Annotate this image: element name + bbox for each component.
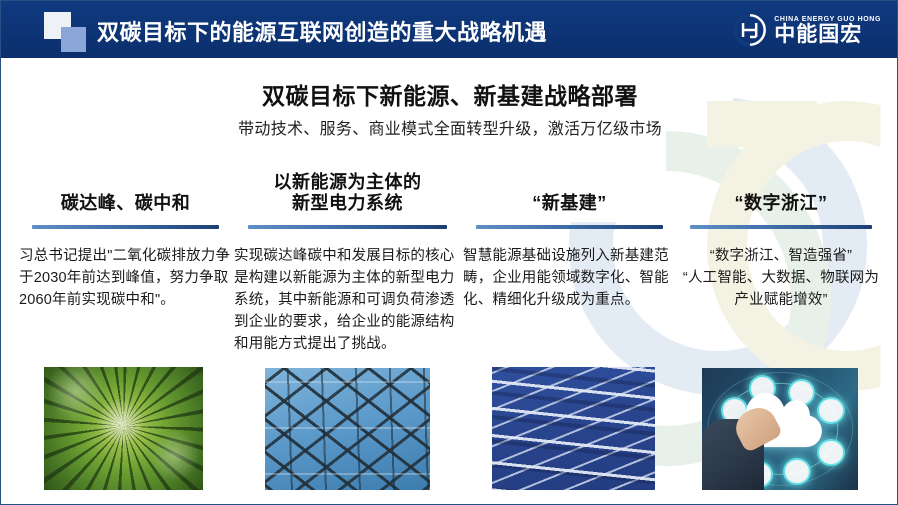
cloud-iot-photo [702,368,858,490]
column-body-text: 习总书记提出"二氧化碳排放力争于2030年前达到峰值，努力争取2060年前实现碳… [19,245,232,311]
column-divider-rule [248,225,448,229]
company-logo: CHINA ENERGY GUO HONG 中能国宏 [733,11,881,49]
forest-canopy-photo [44,367,203,490]
solar-panel-photo [492,367,655,490]
column-divider-rule [32,225,219,229]
column-heading: “数字浙江” [678,156,884,214]
column-heading: “新基建” [463,156,676,214]
column-digital-zhejiang: “数字浙江” “数字浙江、智造强省”“人工智能、大数据、物联网为产业赋能增效” [678,156,884,311]
page-title: 双碳目标下新能源、新基建战略部署 [1,77,898,111]
logo-english-name: CHINA ENERGY GUO HONG [774,16,881,23]
logo-text-block: CHINA ENERGY GUO HONG 中能国宏 [774,16,881,45]
slide-root: 双碳目标下的能源互联网创造的重大战略机遇 CHINA ENERGY GUO HO… [0,0,898,505]
solar-panel-image [492,367,655,490]
forest-canopy-image [44,367,203,490]
column-heading: 碳达峰、碳中和 [19,156,232,214]
column-heading: 以新能源为主体的新型电力系统 [234,156,461,214]
header-title: 双碳目标下的能源互联网创造的重大战略机遇 [97,15,547,47]
logo-chinese-name: 中能国宏 [774,24,881,45]
transmission-tower-photo [265,368,430,490]
iot-node-icon [783,458,810,485]
column-carbon-peak: 碳达峰、碳中和 习总书记提出"二氧化碳排放力争于2030年前达到峰值，努力争取2… [19,156,232,311]
column-body-text: 智慧能源基础设施列入新基建范畴，企业用能领域数字化、智能化、精细化升级成为重点。 [463,245,676,311]
column-body-text: 实现碳达峰碳中和发展目标的核心是构建以新能源为主体的新型电力系统，其中新能源和可… [234,245,461,355]
column-body-text: “数字浙江、智造强省”“人工智能、大数据、物联网为产业赋能增效” [678,245,884,311]
header-bar: 双碳目标下的能源互联网创造的重大战略机遇 CHINA ENERGY GUO HO… [1,1,898,58]
logo-circle-mark-icon [733,13,767,47]
column-divider-rule [476,225,663,229]
page-subtitle: 带动技术、服务、商业模式全面转型升级，激活万亿级市场 [1,115,898,139]
iot-node-icon [817,439,844,466]
column-divider-rule [690,225,871,229]
column-new-infrastructure: “新基建” 智慧能源基础设施列入新基建范畴，企业用能领域数字化、智能化、精细化升… [463,156,676,311]
cloud-iot-image [702,368,858,490]
column-new-power-system: 以新能源为主体的新型电力系统 实现碳达峰碳中和发展目标的核心是构建以新能源为主体… [234,156,461,355]
header-square-blue-icon [61,27,86,52]
transmission-tower-image [265,368,430,490]
